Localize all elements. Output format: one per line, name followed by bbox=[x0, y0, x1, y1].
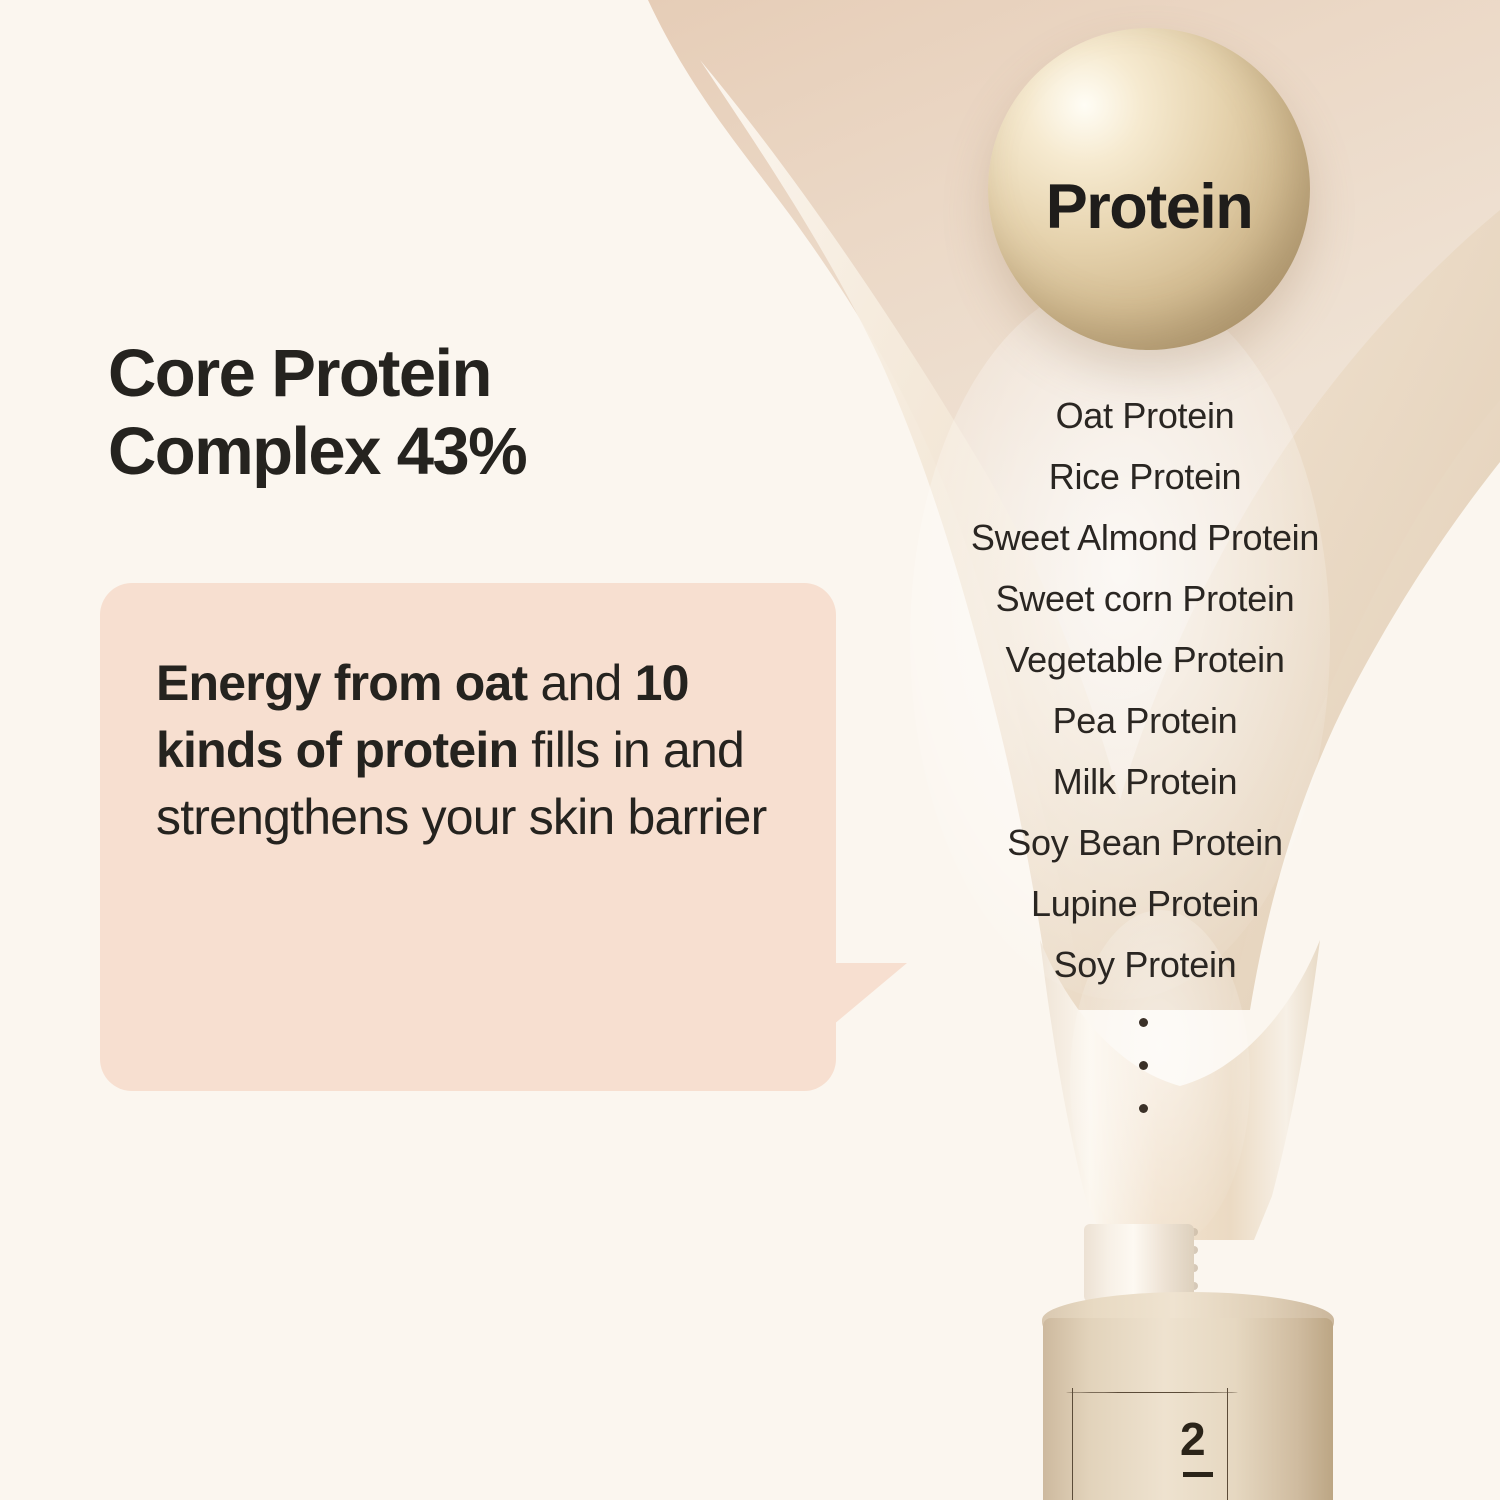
bottle-neck bbox=[1084, 1224, 1194, 1302]
protein-list-item: Oat Protein bbox=[900, 385, 1390, 446]
more-ingredients-ellipsis-icon bbox=[1139, 1018, 1151, 1147]
speech-bubble-tail bbox=[833, 963, 907, 1025]
bottle-label-underscore bbox=[1183, 1472, 1213, 1477]
protein-list-item: Lupine Protein bbox=[900, 873, 1390, 934]
speech-bubble-segment-0: Energy from oat bbox=[156, 655, 527, 711]
bottle-label-number: 2 bbox=[1180, 1412, 1206, 1466]
page-title: Core Protein Complex 43% bbox=[108, 335, 868, 492]
product-infographic: Protein Core Protein Complex 43% Energy … bbox=[0, 0, 1500, 1500]
protein-list-item: Soy Bean Protein bbox=[900, 812, 1390, 873]
protein-list-item: Vegetable Protein bbox=[900, 629, 1390, 690]
protein-list-item: Pea Protein bbox=[900, 690, 1390, 751]
protein-list-item: Sweet Almond Protein bbox=[900, 507, 1390, 568]
protein-sphere: Protein bbox=[988, 28, 1310, 350]
ellipsis-dot bbox=[1139, 1018, 1148, 1027]
speech-bubble-segment-1: and bbox=[527, 655, 634, 711]
protein-ingredient-list: Oat ProteinRice ProteinSweet Almond Prot… bbox=[900, 385, 1390, 995]
product-bottle: 2 bbox=[1020, 1200, 1350, 1500]
bottle-label-top-line bbox=[1066, 1392, 1238, 1393]
protein-list-item: Rice Protein bbox=[900, 446, 1390, 507]
protein-list-item: Sweet corn Protein bbox=[900, 568, 1390, 629]
protein-list-item: Soy Protein bbox=[900, 934, 1390, 995]
ellipsis-dot bbox=[1139, 1061, 1148, 1070]
protein-list-item: Milk Protein bbox=[900, 751, 1390, 812]
speech-bubble-text: Energy from oat and 10 kinds of protein … bbox=[156, 650, 796, 851]
ellipsis-dot bbox=[1139, 1104, 1148, 1113]
protein-sphere-label: Protein bbox=[988, 171, 1310, 243]
